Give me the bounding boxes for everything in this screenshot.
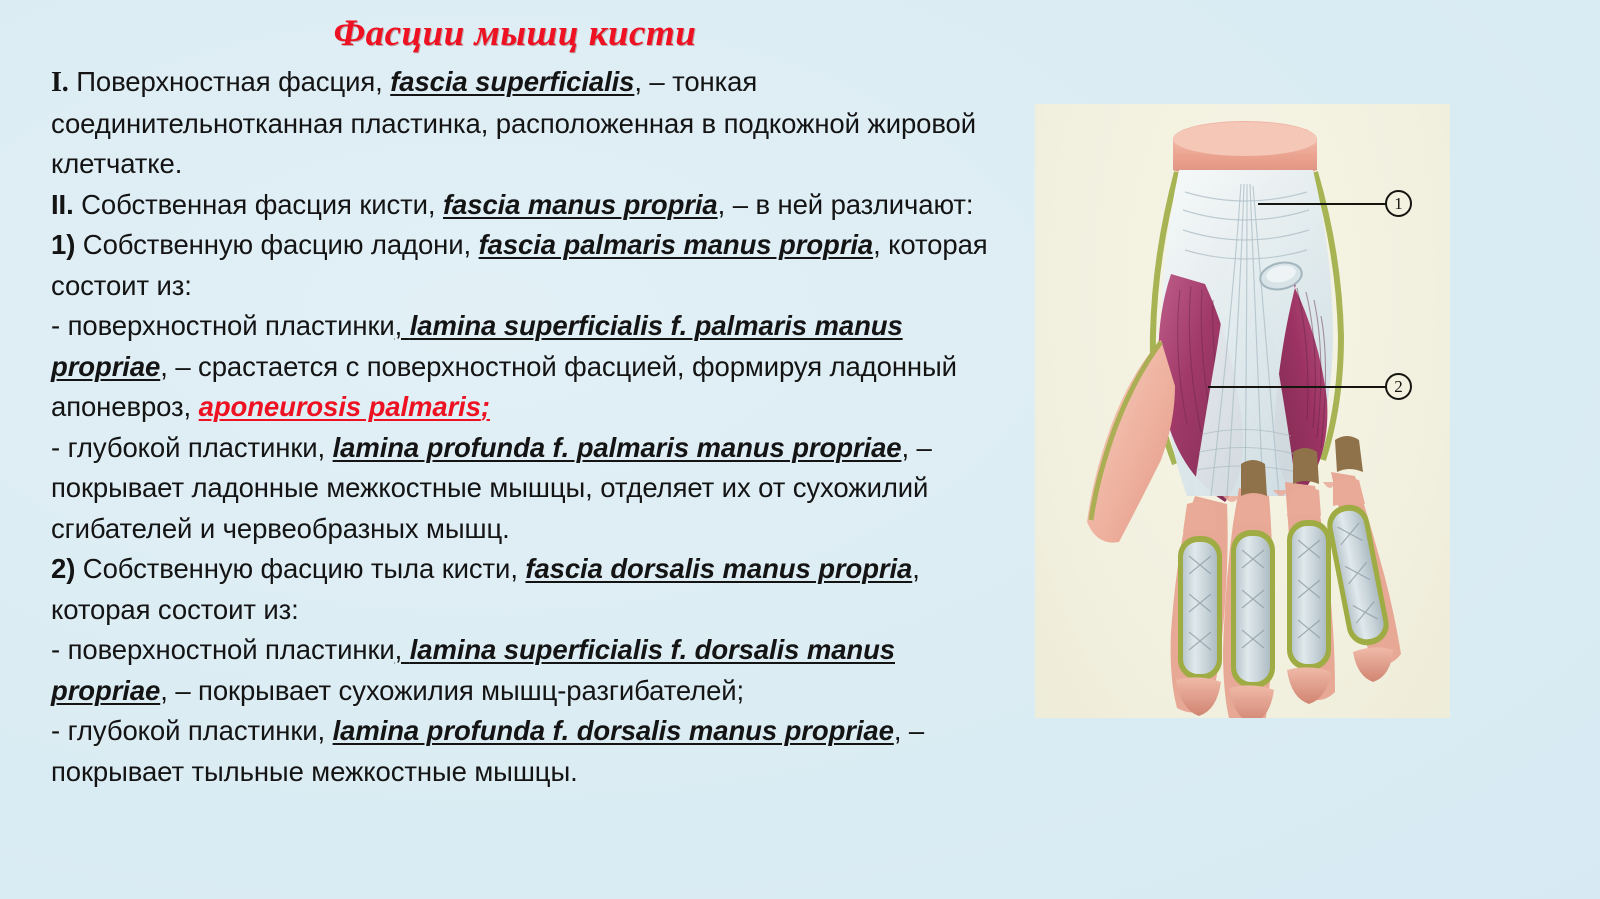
latin-term: lamina profunda f. palmaris manus propri… [333,432,902,463]
paragraph-8: - глубокой пластинки, lamina profunda f.… [51,711,1011,792]
latin-term: fascia dorsalis manus propria [525,553,912,584]
text-run: - глубокой пластинки, [51,715,333,746]
text-run: Собственную фасцию ладони, [75,229,478,260]
paragraph-marker: II. [51,189,74,220]
paragraph-marker: I. [51,67,69,98]
callout-1: 1 [1258,190,1412,217]
latin-term-highlight-punct: ; [481,391,490,422]
paragraph-5: - глубокой пластинки, lamina profunda f.… [51,428,1011,550]
paragraph-1: I. Поверхностная фасция, fascia superfic… [51,62,1011,185]
latin-term-highlight: aponeurosis palmaris [199,391,481,422]
paragraph-marker: 2) [51,553,75,584]
text-run: Собственная фасция кисти, [74,189,443,220]
text-run: , [395,310,410,341]
paragraph-marker: 1) [51,229,75,260]
text-run: Поверхностная фасция, [69,66,391,97]
callout-number-1: 1 [1385,190,1412,217]
latin-term: fascia manus propria [443,189,718,220]
callout-number-2: 2 [1385,373,1412,400]
callout-2: 2 [1208,373,1412,400]
slide-root: Фасции мышц кисти I. Поверхностная фасци… [0,0,1600,899]
text-run: , – в ней различают: [718,189,974,220]
text-run: , [395,634,410,665]
text-run: , – срастается с поверхностной фасцией, … [51,351,957,423]
callout-leader-line [1258,203,1386,205]
paragraph-3: 1) Собственную фасцию ладони, fascia pal… [51,225,1011,306]
body-text-block: I. Поверхностная фасция, fascia superfic… [51,62,1011,792]
text-run: - глубокой пластинки, [51,432,333,463]
paragraph-2: II. Собственная фасция кисти, fascia man… [51,185,1011,226]
text-run: - поверхностной пластинки [51,310,395,341]
paragraph-6: 2) Собственную фасцию тыла кисти, fascia… [51,549,1011,630]
latin-term: lamina profunda f. dorsalis manus propri… [333,715,894,746]
text-run: Собственную фасцию тыла кисти, [75,553,525,584]
latin-term: fascia superficialis [390,66,634,97]
page-title: Фасции мышц кисти [0,12,1030,55]
latin-term: fascia palmaris manus propria [479,229,873,260]
paragraph-4: - поверхностной пластинки, lamina superf… [51,306,1011,428]
text-run: , – покрывает сухожилия мышц-разгибателе… [160,675,744,706]
paragraph-7: - поверхностной пластинки, lamina superf… [51,630,1011,711]
text-run: - поверхностной пластинки [51,634,395,665]
callout-leader-line [1208,386,1386,388]
